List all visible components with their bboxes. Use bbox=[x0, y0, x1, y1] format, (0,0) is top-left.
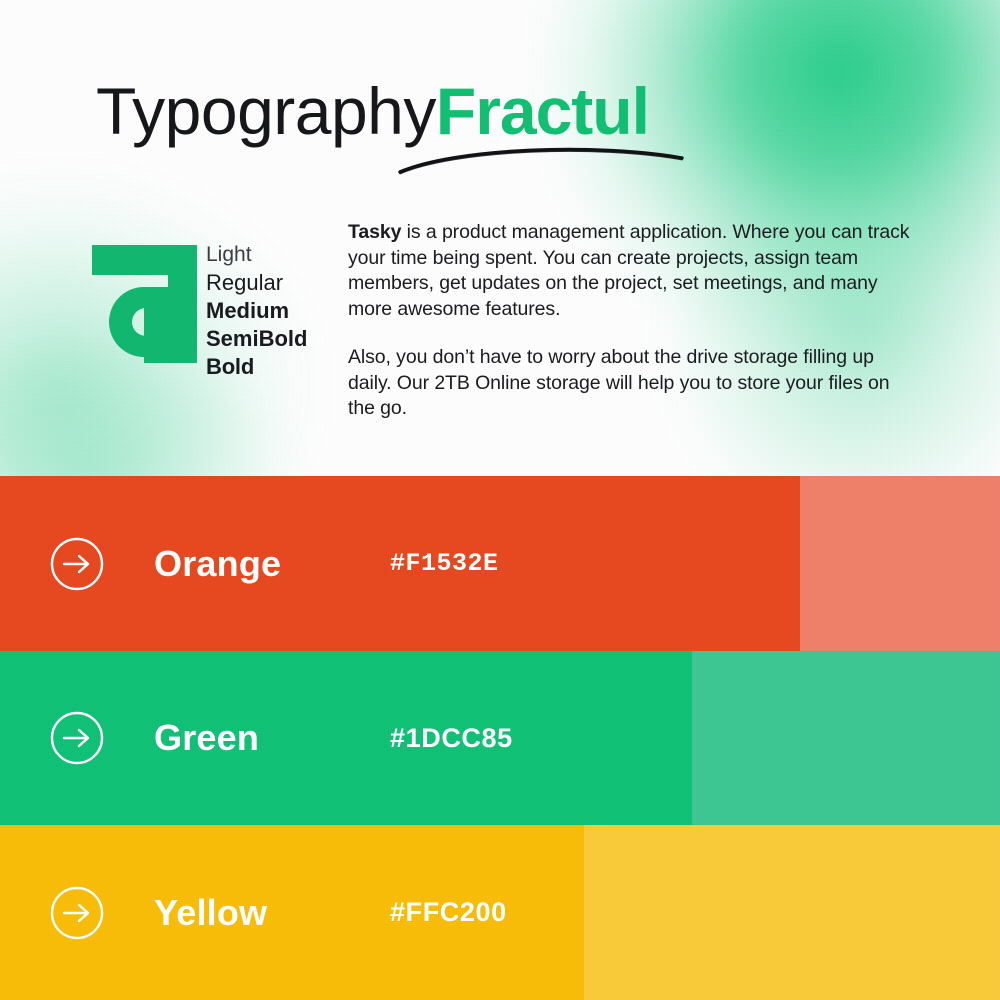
description-block: Tasky is a product management applicatio… bbox=[348, 220, 918, 422]
title-word-brand: Fractul bbox=[436, 74, 649, 148]
palette-name-orange: Orange bbox=[154, 543, 281, 585]
product-name-emphasis: Tasky bbox=[348, 221, 401, 243]
arrow-right-circle-icon[interactable] bbox=[50, 711, 104, 765]
palette-row-yellow-tint bbox=[584, 825, 1000, 1000]
palette-row-yellow-content: Yellow #FFC200 bbox=[0, 825, 267, 1000]
palette-hex-orange: #F1532E bbox=[390, 549, 499, 578]
title-word-typography: Typography bbox=[96, 74, 436, 148]
page-title: TypographyFractul bbox=[96, 78, 649, 144]
palette-row-orange[interactable]: Orange #F1532E bbox=[0, 476, 1000, 651]
font-specimen-glyph-a bbox=[92, 245, 197, 363]
palette-hex-yellow: #FFC200 bbox=[390, 897, 507, 928]
palette-hex-green: #1DCC85 bbox=[390, 723, 513, 754]
weight-item-regular: Regular bbox=[206, 269, 307, 297]
palette-row-green[interactable]: Green #1DCC85 bbox=[0, 651, 1000, 825]
description-paragraph-1-rest: is a product management application. Whe… bbox=[348, 221, 909, 320]
palette-row-green-content: Green #1DCC85 bbox=[0, 651, 259, 825]
brand-style-sheet: TypographyFractul Light Regular Medium S… bbox=[0, 0, 1000, 1000]
description-paragraph-2: Also, you don’t have to worry about the … bbox=[348, 345, 918, 422]
weight-item-semibold: SemiBold bbox=[206, 325, 307, 353]
palette-row-green-tint bbox=[692, 651, 1000, 825]
palette-name-yellow: Yellow bbox=[154, 892, 267, 934]
palette-row-orange-tint bbox=[800, 476, 1000, 651]
palette-row-yellow[interactable]: Yellow #FFC200 bbox=[0, 825, 1000, 1000]
arrow-right-circle-icon[interactable] bbox=[50, 886, 104, 940]
weight-item-bold: Bold bbox=[206, 353, 307, 381]
palette-name-green: Green bbox=[154, 717, 259, 759]
weight-item-light: Light bbox=[206, 241, 307, 269]
description-paragraph-1: Tasky is a product management applicatio… bbox=[348, 220, 918, 322]
swoosh-underline-icon bbox=[396, 139, 686, 177]
weight-item-medium: Medium bbox=[206, 297, 307, 325]
arrow-right-circle-icon[interactable] bbox=[50, 537, 104, 591]
palette-row-orange-content: Orange #F1532E bbox=[0, 476, 281, 651]
font-weight-list: Light Regular Medium SemiBold Bold bbox=[206, 241, 307, 381]
